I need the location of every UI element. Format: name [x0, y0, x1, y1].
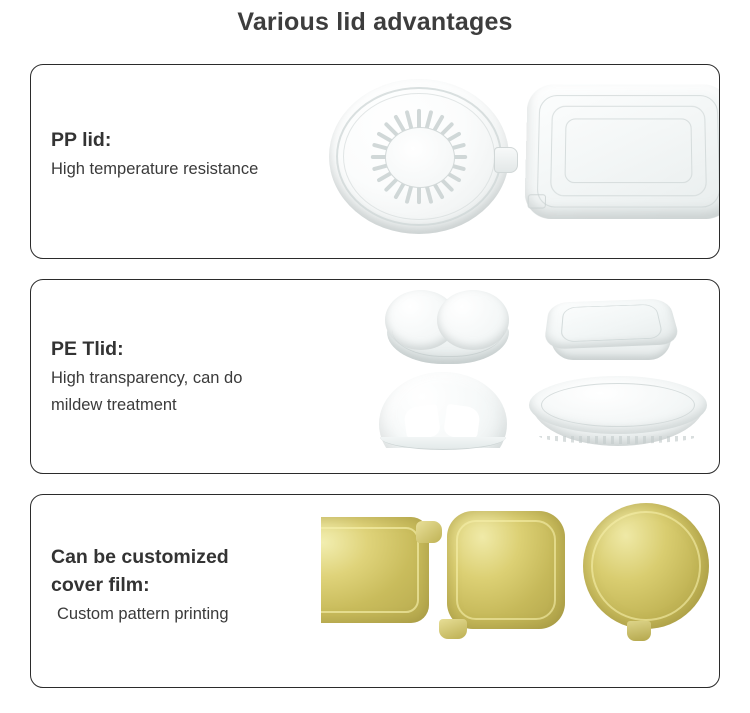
- foil-rim: [456, 520, 555, 619]
- lid-corner-notch: [527, 194, 546, 208]
- card-cover-film-heading-line2: cover film:: [51, 573, 321, 597]
- lid-dome: [379, 372, 507, 473]
- card-pe-tlid-text: PE Tlid: High transparency, can do milde…: [51, 338, 321, 419]
- lid-inner-ridge: [561, 304, 664, 343]
- foil-rim: [321, 527, 419, 614]
- square-pe-lid-image: [541, 288, 681, 370]
- card-cover-film-description: Custom pattern printing: [51, 601, 321, 628]
- card-pe-tlid-heading: PE Tlid:: [51, 338, 321, 361]
- card-pe-tlid-artwork: [321, 280, 719, 473]
- card-pp-lid-description: High temperature resistance: [51, 156, 321, 183]
- lid-ridge-texture: [539, 436, 697, 444]
- round-ribbed-pp-lid-image: [329, 79, 509, 234]
- heart-shaped-pe-lid-image: [383, 288, 513, 368]
- card-pe-tlid-description-line1: High transparency, can do: [51, 365, 321, 392]
- foil-pull-tab: [416, 521, 442, 543]
- lid-center-hub: [385, 127, 455, 188]
- lid-ridge-inner: [564, 119, 692, 183]
- round-gold-foil-cover-image: [583, 503, 709, 629]
- lid-surface: [524, 85, 719, 219]
- foil-pull-tab: [439, 619, 467, 639]
- card-pp-lid-text: PP lid: High temperature resistance: [51, 129, 321, 183]
- lid-surface: [529, 376, 707, 434]
- card-cover-film-text: Can be customized cover film: Custom pat…: [51, 545, 321, 628]
- card-pe-tlid-description-line2: mildew treatment: [51, 392, 321, 419]
- lid-highlight-left: [403, 404, 441, 440]
- card-pp-lid-artwork: [321, 65, 719, 258]
- rectangular-pp-lid-image: [526, 83, 719, 218]
- oval-flat-pe-lid-image: [529, 376, 707, 450]
- card-cover-film-heading-line1: Can be customized: [51, 545, 321, 569]
- card-cover-film-artwork: [321, 495, 719, 687]
- lid-pull-tab: [494, 147, 518, 173]
- lid-highlight-right: [443, 404, 481, 440]
- square-gold-foil-cover-image: [447, 511, 565, 629]
- dome-pe-lid-image: [379, 372, 507, 450]
- lid-surface: [543, 299, 681, 350]
- rectangular-gold-foil-cover-image: [321, 517, 429, 623]
- card-pp-lid: PP lid: High temperature resistance: [30, 64, 720, 259]
- foil-rim: [591, 511, 702, 622]
- card-cover-film: Can be customized cover film: Custom pat…: [30, 494, 720, 688]
- card-pe-tlid: PE Tlid: High transparency, can do milde…: [30, 279, 720, 474]
- page-title: Various lid advantages: [0, 8, 750, 37]
- card-pp-lid-heading: PP lid:: [51, 129, 321, 152]
- foil-pull-tab: [627, 621, 651, 641]
- lid-lip: [380, 437, 506, 450]
- lid-inner-ring: [541, 383, 694, 427]
